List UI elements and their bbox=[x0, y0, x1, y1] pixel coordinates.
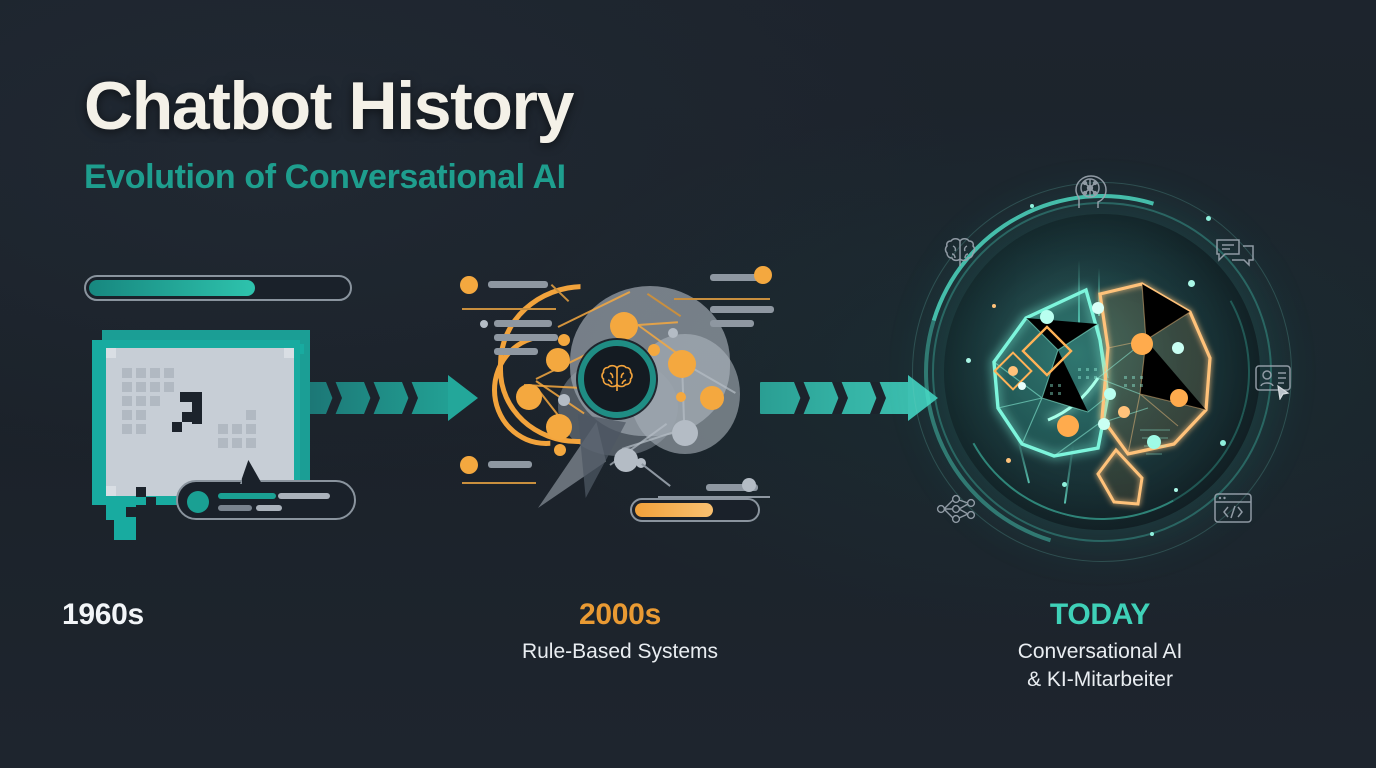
annotation-line bbox=[462, 308, 556, 310]
network-node bbox=[558, 394, 570, 406]
brain-accent-dot bbox=[1008, 366, 1018, 376]
network-node bbox=[554, 444, 566, 456]
pixel-block bbox=[136, 396, 146, 406]
caption-today: TODAY Conversational AI & KI-Mitarbeiter bbox=[972, 598, 1228, 695]
year-label-today: TODAY bbox=[972, 598, 1228, 632]
annotation-dot bbox=[480, 320, 488, 328]
text-line bbox=[256, 505, 282, 511]
pixel-block bbox=[136, 410, 146, 420]
pixel-block bbox=[284, 348, 294, 358]
spark-dot bbox=[1150, 532, 1154, 536]
annotation-bar bbox=[488, 461, 532, 468]
user-card-cursor-icon bbox=[1254, 362, 1298, 405]
annotation-bar bbox=[710, 306, 774, 313]
network-node bbox=[546, 348, 570, 372]
pixel-block bbox=[106, 486, 116, 496]
brain-icon bbox=[596, 362, 638, 396]
pixel-block bbox=[164, 382, 174, 392]
network-node bbox=[672, 420, 698, 446]
pixel-block bbox=[218, 438, 228, 448]
pixel-block bbox=[136, 382, 146, 392]
pixel-block bbox=[232, 438, 242, 448]
pixel-block bbox=[164, 368, 174, 378]
head-with-brain-icon bbox=[1070, 168, 1114, 217]
neural-network-icon bbox=[934, 492, 978, 531]
pixel-block bbox=[150, 382, 160, 392]
pixel-block bbox=[218, 424, 228, 434]
spark-dot bbox=[1206, 216, 1211, 221]
network-node bbox=[558, 334, 570, 346]
brain-badge bbox=[578, 340, 656, 418]
spark-dot bbox=[1188, 280, 1195, 287]
spark-dot bbox=[1062, 482, 1067, 487]
pixel-block bbox=[122, 382, 132, 392]
text-line bbox=[218, 505, 252, 511]
pixel-block bbox=[150, 396, 160, 406]
brain-outline-icon bbox=[940, 234, 980, 275]
pixel-block bbox=[246, 410, 256, 420]
pixel-block bbox=[246, 438, 256, 448]
pixel-block bbox=[106, 348, 116, 358]
annotation-dot bbox=[460, 276, 478, 294]
text-line bbox=[278, 493, 330, 499]
progress-bar-fill bbox=[635, 503, 713, 517]
network-node bbox=[648, 344, 660, 356]
pixel-block bbox=[122, 368, 132, 378]
spark-dot bbox=[1220, 440, 1226, 446]
annotation-bar bbox=[494, 348, 538, 355]
brain-stem bbox=[1098, 450, 1142, 504]
pixel-block bbox=[146, 497, 156, 507]
network-node bbox=[610, 312, 638, 340]
description-today-line1: Conversational AI bbox=[972, 638, 1228, 666]
network-node bbox=[668, 328, 678, 338]
pixel-block bbox=[232, 424, 242, 434]
network-node bbox=[676, 392, 686, 402]
stage-visual-2000s bbox=[462, 262, 778, 538]
retro-window-screen bbox=[106, 348, 294, 496]
pixel-block bbox=[136, 487, 146, 497]
pixel-cursor bbox=[180, 392, 202, 402]
annotation-dot bbox=[742, 478, 756, 492]
description-today-line2: & KI-Mitarbeiter bbox=[972, 666, 1228, 694]
pixel-block bbox=[122, 410, 132, 420]
year-label-1960s: 1960s bbox=[62, 598, 318, 632]
progress-bar-1960s bbox=[84, 275, 352, 301]
status-dot bbox=[187, 491, 209, 513]
spark-dot bbox=[1030, 204, 1034, 208]
annotation-line bbox=[462, 482, 536, 484]
network-node bbox=[546, 414, 572, 440]
network-node bbox=[700, 386, 724, 410]
header: Chatbot History Evolution of Conversatio… bbox=[84, 72, 573, 197]
infographic-canvas: Chatbot History Evolution of Conversatio… bbox=[0, 0, 1376, 768]
pixel-block bbox=[246, 424, 256, 434]
spark-dot bbox=[992, 304, 996, 308]
pixel-block bbox=[126, 507, 136, 517]
network-node bbox=[614, 448, 638, 472]
text-line bbox=[218, 493, 276, 499]
caption-2000s: 2000s Rule-Based Systems bbox=[492, 598, 748, 666]
annotation-bar bbox=[494, 334, 558, 341]
speech-bubble-tail bbox=[114, 520, 136, 540]
annotation-dot bbox=[460, 456, 478, 474]
pixel-cursor bbox=[172, 422, 182, 432]
annotation-line bbox=[674, 298, 770, 300]
code-window-icon bbox=[1212, 490, 1254, 531]
spark-dot bbox=[1006, 458, 1011, 463]
page-title: Chatbot History bbox=[84, 72, 573, 140]
annotation-dot bbox=[754, 266, 772, 284]
stage-visual-1960s bbox=[84, 275, 384, 535]
spark-dot bbox=[966, 358, 971, 363]
year-label-2000s: 2000s bbox=[492, 598, 748, 632]
description-today: Conversational AI & KI-Mitarbeiter bbox=[972, 638, 1228, 695]
pixel-block bbox=[122, 396, 132, 406]
page-subtitle: Evolution of Conversational AI bbox=[84, 158, 573, 197]
chat-bubbles-icon bbox=[1214, 236, 1256, 279]
annotation-line bbox=[641, 463, 671, 487]
pixel-corner bbox=[294, 344, 304, 354]
pixel-cursor bbox=[192, 402, 202, 424]
annotation-bar bbox=[710, 320, 754, 327]
pixel-block bbox=[136, 424, 146, 434]
progress-bar-fill bbox=[89, 280, 255, 296]
pixel-block bbox=[150, 368, 160, 378]
pixel-cursor bbox=[182, 412, 192, 422]
spark-dot bbox=[1174, 488, 1178, 492]
progress-bar-2000s bbox=[630, 498, 760, 522]
network-node bbox=[516, 384, 542, 410]
annotation-bar bbox=[488, 281, 548, 288]
description-2000s: Rule-Based Systems bbox=[492, 638, 748, 666]
caption-1960s: 1960s bbox=[62, 598, 318, 632]
stage-visual-today bbox=[902, 172, 1302, 572]
network-node bbox=[668, 350, 696, 378]
annotation-bar bbox=[494, 320, 552, 327]
pixel-block bbox=[122, 424, 132, 434]
pixel-block bbox=[136, 368, 146, 378]
chat-input-pill-1960s[interactable] bbox=[176, 480, 356, 520]
